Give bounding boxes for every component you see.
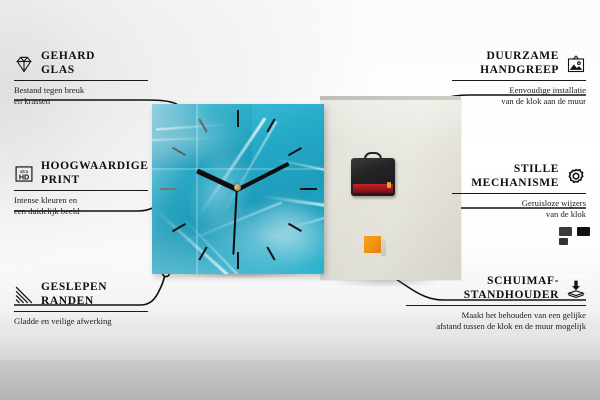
- feature-description: Intense kleuren en een duidelijk beeld: [14, 195, 148, 216]
- picture-frame-icon: [566, 54, 586, 74]
- feature-title: STILLE MECHANISME: [471, 163, 559, 190]
- feature-description: Eenvoudige installatie van de klok aan d…: [452, 85, 586, 106]
- mechanism-detail: [559, 227, 572, 236]
- mechanism-detail: [577, 227, 590, 236]
- hour-tick-3: [300, 188, 317, 190]
- hour-tick-2: [288, 147, 302, 156]
- feature-title: DUURZAME HANDGREEP: [480, 50, 559, 77]
- product-illustration: [148, 96, 468, 296]
- diamond-icon: [14, 54, 34, 74]
- feature-schuimafstandhouder[interactable]: SCHUIMAF- STANDHOUDER Maakt het behouden…: [406, 275, 586, 331]
- battery-terminal: [387, 182, 391, 188]
- feature-header: GESLEPEN RANDEN: [14, 281, 148, 308]
- product-infographic: GEHARD GLAS Bestand tegen breuk en krass…: [0, 0, 600, 400]
- feature-description: Maakt het behouden van een gelijke afsta…: [406, 310, 586, 331]
- feature-stille-mechanisme[interactable]: STILLE MECHANISME Geruisloze wijzers van…: [452, 163, 586, 219]
- mechanism-detail: [559, 238, 568, 245]
- feature-description: Gladde en veilige afwerking: [14, 316, 148, 327]
- feature-title: SCHUIMAF- STANDHOUDER: [464, 275, 559, 302]
- feature-header: SCHUIMAF- STANDHOUDER: [406, 275, 586, 302]
- clock-drop-shadow: [154, 272, 330, 286]
- hour-tick-9: [160, 188, 177, 190]
- feature-geslepen-randen[interactable]: GESLEPEN RANDEN Gladde en veilige afwerk…: [14, 281, 148, 327]
- foam-spacer-pad: [364, 236, 381, 253]
- beveled-edges-icon: [14, 285, 34, 305]
- svg-text:HD: HD: [19, 173, 29, 181]
- divider: [452, 193, 586, 194]
- feature-header: GEHARD GLAS: [14, 50, 148, 77]
- divider: [14, 80, 148, 81]
- feature-description: Bestand tegen breuk en krassen: [14, 85, 148, 106]
- feature-title: GEHARD GLAS: [41, 50, 95, 77]
- divider: [406, 305, 586, 306]
- ultra-hd-icon: ultra HD: [14, 164, 34, 184]
- feature-title: GESLEPEN RANDEN: [41, 281, 107, 308]
- spacer-stand-icon: [566, 279, 586, 299]
- glass-reflection-line: [152, 168, 324, 170]
- hour-tick-6: [237, 252, 239, 269]
- glass-reflection-line: [196, 104, 198, 274]
- feature-duurzame-handgreep[interactable]: DUURZAME HANDGREEP Eenvoudige installati…: [452, 50, 586, 106]
- feature-gehard-glas[interactable]: GEHARD GLAS Bestand tegen breuk en krass…: [14, 50, 148, 106]
- gear-icon: [566, 167, 586, 187]
- divider: [14, 190, 148, 191]
- hour-tick-12: [237, 110, 239, 127]
- feature-header: ultra HD HOOGWAARDIGE PRINT: [14, 160, 148, 187]
- foam-pad-side: [381, 239, 386, 256]
- divider: [452, 80, 586, 81]
- clock-center-pin: [234, 184, 241, 191]
- divider: [14, 311, 148, 312]
- feature-hoogwaardige-print[interactable]: ultra HD HOOGWAARDIGE PRINT Intense kleu…: [14, 160, 148, 216]
- feature-description: Geruisloze wijzers van de klok: [452, 198, 586, 219]
- feature-header: DUURZAME HANDGREEP: [452, 50, 586, 77]
- feature-title: HOOGWAARDIGE PRINT: [41, 160, 149, 187]
- feature-header: STILLE MECHANISME: [452, 163, 586, 190]
- clock-face: [152, 104, 324, 274]
